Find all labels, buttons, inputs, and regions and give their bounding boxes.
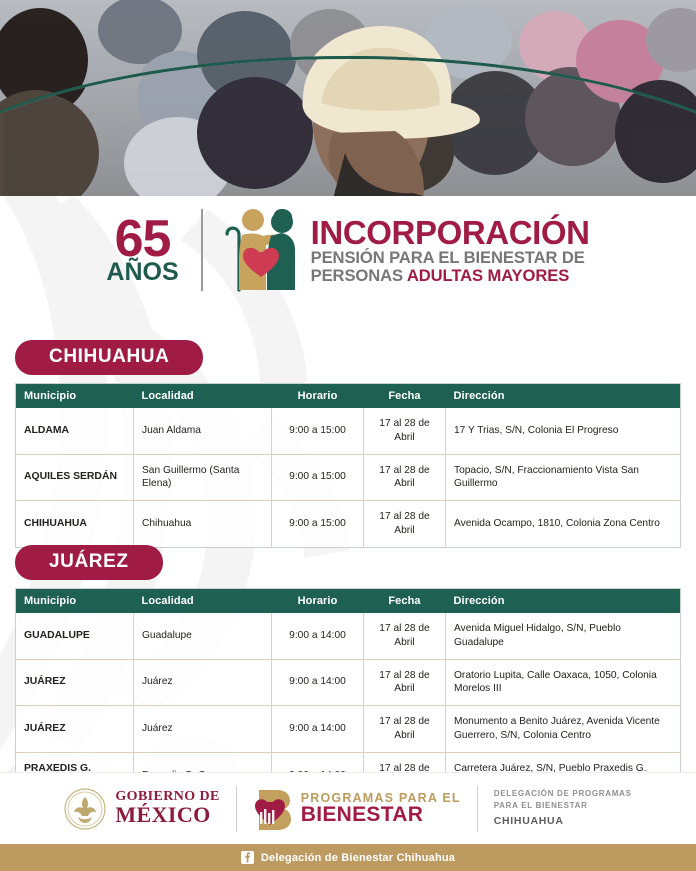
bienestar-b-heart-icon: [253, 786, 293, 832]
cell-fecha: 17 al 28 de Abril: [364, 706, 446, 753]
section-chihuahua: CHIHUAHUA Municipio Localidad Horario Fe…: [0, 340, 696, 548]
social-label: Delegación de Bienestar Chihuahua: [261, 852, 455, 864]
cell-direccion: 17 Y Trias, S/N, Colonia El Progreso: [446, 408, 681, 454]
program-title-sub2: PERSONAS ADULTAS MAYORES: [311, 268, 590, 285]
program-title-block: INCORPORACIÓN PENSIÓN PARA EL BIENESTAR …: [299, 216, 590, 284]
schedule-table-chihuahua: Municipio Localidad Horario Fecha Direcc…: [15, 383, 681, 548]
cell-fecha: 17 al 28 de Abril: [364, 408, 446, 454]
cell-municipio: JUÁREZ: [16, 659, 134, 706]
hero-banner: [0, 0, 696, 196]
footer-logos-band: GOBIERNO DE MÉXICO PROGRAMAS PARA EL BIE…: [0, 772, 696, 844]
table-row: CHIHUAHUA Chihuahua 9:00 a 15:00 17 al 2…: [16, 501, 681, 548]
col-header-direccion: Dirección: [446, 384, 681, 409]
cell-direccion: Avenida Miguel Hidalgo, S/N, Pueblo Guad…: [446, 613, 681, 659]
program-title-main: INCORPORACIÓN: [311, 216, 590, 249]
table-row: ALDAMA Juan Aldama 9:00 a 15:00 17 al 28…: [16, 408, 681, 454]
age-65-logo: 65 AÑOS: [106, 217, 190, 283]
program-title-sub2-highlight: ADULTAS MAYORES: [407, 266, 569, 285]
cell-horario: 9:00 a 14:00: [272, 613, 364, 659]
cell-horario: 9:00 a 14:00: [272, 659, 364, 706]
table-header-row: Municipio Localidad Horario Fecha Direcc…: [16, 589, 681, 614]
cell-municipio: CHIHUAHUA: [16, 501, 134, 548]
cell-localidad: Juárez: [134, 706, 272, 753]
facebook-icon[interactable]: [241, 851, 254, 864]
col-header-municipio: Municipio: [16, 589, 134, 614]
table-row: JUÁREZ Juárez 9:00 a 14:00 17 al 28 de A…: [16, 706, 681, 753]
col-header-localidad: Localidad: [134, 589, 272, 614]
schedule-table-juarez: Municipio Localidad Horario Fecha Direcc…: [15, 588, 681, 800]
cell-direccion: Oratorio Lupita, Calle Oaxaca, 1050, Col…: [446, 659, 681, 706]
cell-fecha: 17 al 28 de Abril: [364, 659, 446, 706]
mexican-eagle-seal-icon: [64, 788, 106, 830]
brand-divider-1: [201, 209, 203, 291]
cell-horario: 9:00 a 15:00: [272, 408, 364, 454]
age-word: AÑOS: [106, 262, 178, 284]
col-header-fecha: Fecha: [364, 384, 446, 409]
elderly-couple-heart-icon: [213, 204, 299, 296]
program-brand-header: 65 AÑOS INCORPORACIÓN PENSIÓN PARA EL BI…: [0, 196, 696, 304]
age-number: 65: [115, 217, 171, 262]
col-header-horario: Horario: [272, 384, 364, 409]
cell-localidad: Juan Aldama: [134, 408, 272, 454]
footer-divider-1: [236, 786, 237, 832]
table-header-row: Municipio Localidad Horario Fecha Direcc…: [16, 384, 681, 409]
cell-localidad: Chihuahua: [134, 501, 272, 548]
table-row: JUÁREZ Juárez 9:00 a 14:00 17 al 28 de A…: [16, 659, 681, 706]
gobierno-line2: MÉXICO: [115, 804, 219, 826]
cell-fecha: 17 al 28 de Abril: [364, 501, 446, 548]
program-title-sub1: PENSIÓN PARA EL BIENESTAR DE: [311, 250, 590, 267]
cell-municipio: ALDAMA: [16, 408, 134, 454]
delegacion-line2: PARA EL BIENESTAR: [494, 800, 632, 812]
footer-divider-2: [477, 786, 478, 832]
cell-horario: 9:00 a 15:00: [272, 454, 364, 501]
cell-municipio: AQUILES SERDÁN: [16, 454, 134, 501]
col-header-localidad: Localidad: [134, 384, 272, 409]
cell-municipio: JUÁREZ: [16, 706, 134, 753]
cell-fecha: 17 al 28 de Abril: [364, 454, 446, 501]
table-row: GUADALUPE Guadalupe 9:00 a 14:00 17 al 2…: [16, 613, 681, 659]
section-title-juarez: JUÁREZ: [15, 545, 163, 580]
gobierno-de-mexico-logo: GOBIERNO DE MÉXICO: [64, 788, 219, 830]
section-title-chihuahua: CHIHUAHUA: [15, 340, 203, 375]
col-header-fecha: Fecha: [364, 589, 446, 614]
cell-localidad: Guadalupe: [134, 613, 272, 659]
programas-line2: BIENESTAR: [301, 804, 461, 825]
table-row: AQUILES SERDÁN San Guillermo (Santa Elen…: [16, 454, 681, 501]
cell-localidad: San Guillermo (Santa Elena): [134, 454, 272, 501]
col-header-municipio: Municipio: [16, 384, 134, 409]
programas-bienestar-logo: PROGRAMAS PARA EL BIENESTAR: [253, 786, 461, 832]
program-title-sub2-plain: PERSONAS: [311, 266, 407, 285]
cell-direccion: Topacio, S/N, Fraccionamiento Vista San …: [446, 454, 681, 501]
delegacion-line1: DELEGACIÓN DE PROGRAMAS: [494, 788, 632, 800]
cell-horario: 9:00 a 14:00: [272, 706, 364, 753]
social-bar: Delegación de Bienestar Chihuahua: [0, 844, 696, 871]
col-header-horario: Horario: [272, 589, 364, 614]
cell-localidad: Juárez: [134, 659, 272, 706]
delegacion-line3: CHIHUAHUA: [494, 814, 632, 830]
cell-horario: 9:00 a 15:00: [272, 501, 364, 548]
section-juarez: JUÁREZ Municipio Localidad Horario Fecha…: [0, 545, 696, 800]
cell-fecha: 17 al 28 de Abril: [364, 613, 446, 659]
cell-direccion: Avenida Ocampo, 1810, Colonia Zona Centr…: [446, 501, 681, 548]
cell-direccion: Monumento a Benito Juárez, Avenida Vicen…: [446, 706, 681, 753]
cell-municipio: GUADALUPE: [16, 613, 134, 659]
col-header-direccion: Dirección: [446, 589, 681, 614]
delegacion-block: DELEGACIÓN DE PROGRAMAS PARA EL BIENESTA…: [494, 788, 632, 830]
